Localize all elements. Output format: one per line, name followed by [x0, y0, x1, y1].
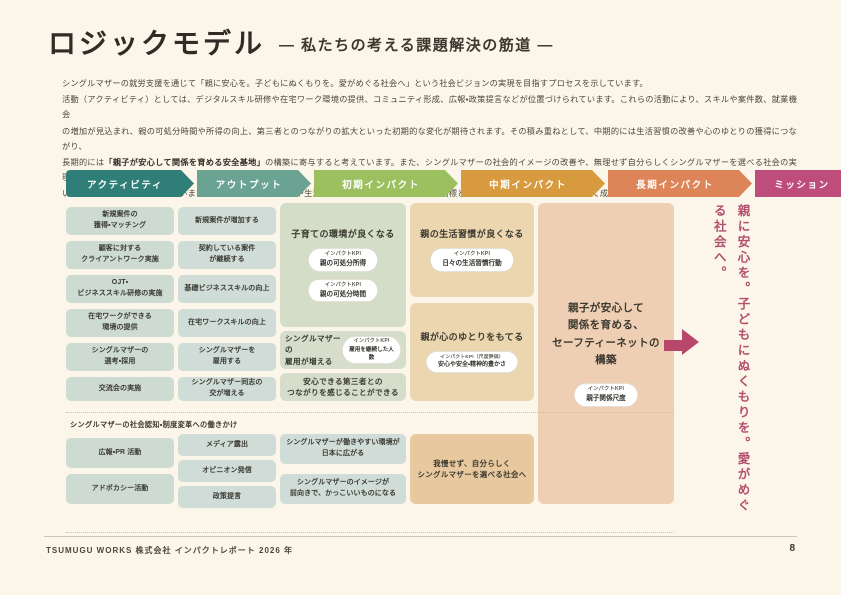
page-subtitle: — 私たちの考える課題解決の筋道 — — [279, 34, 554, 58]
ribbon-label: ミッション — [774, 177, 830, 191]
ribbon-stage-output[interactable]: アウトプット — [197, 170, 311, 197]
kpi-pill-parent-child-scale[interactable]: インパクトKPI 親子関係尺度 — [574, 383, 638, 407]
output-cell-3[interactable]: 基礎ビジネススキルの向上 — [178, 275, 276, 303]
mission-column: 親に安心を。子どもにぬくもりを。愛がめぐる社会へ。 — [700, 204, 796, 534]
activity-cell-2[interactable]: 顧客に対するクライアントワーク実施 — [66, 241, 174, 269]
ribbon-label: 初期インパクト — [342, 177, 420, 191]
kpi-label: インパクトKPI — [586, 386, 626, 394]
kpi-value: 雇用を継続した人数 — [349, 346, 394, 363]
kpi-pill-daily-habits[interactable]: インパクトKPI 日々の生活習慣行動 — [430, 248, 513, 272]
output-cell-6[interactable]: シングルマザー同志の交が増える — [178, 377, 276, 401]
output-cell-2[interactable]: 契約している案件が継続する — [178, 241, 276, 269]
mission-arrow-tail — [664, 340, 684, 351]
intro-line-2: 活動（アクティビティ）としては、デジタルスキル研修や在宅ワーク環境の提供、コミュ… — [62, 92, 797, 122]
ribbon-stage-mid[interactable]: 中期インパクト — [461, 170, 605, 197]
intro-line-1: シングルマザーの就労支援を通じて「親に安心を。子どもにぬくもりを。愛がめぐる社会… — [62, 76, 797, 91]
activity-cell-3[interactable]: OJT・ビジネススキル研修の実施 — [66, 275, 174, 303]
ribbon-stage-activity[interactable]: アクティビティ — [66, 170, 194, 197]
long-panel-safetynet[interactable]: 親子が安心して関係を育める、セーフティーネットの構築 インパクトKPI 親子関係… — [538, 203, 674, 504]
early-panel-employment[interactable]: シングルマザーの雇用が増える インパクトKPI 雇用を継続した人数 — [280, 331, 406, 369]
activity-cell-6[interactable]: 交流会の実施 — [66, 377, 174, 401]
page-title: ロジックモデル — [48, 30, 265, 58]
kpi-label: インパクトKPI（尺度評価） — [438, 354, 506, 361]
kpi-pill-employment-retention[interactable]: インパクトKPI 雇用を継続した人数 — [342, 336, 401, 365]
activity-lower-cell-1[interactable]: 広報・PR 活動 — [66, 438, 174, 468]
stage-ribbon: アクティビティ アウトプット 初期インパクト 中期インパクト 長期インパクト ミ… — [66, 170, 841, 197]
mid-panel-lifestyle-title: 親の生活習慣が良くなる — [420, 228, 523, 242]
ribbon-stage-long[interactable]: 長期インパクト — [608, 170, 752, 197]
kpi-label: インパクトKPI — [349, 338, 394, 346]
kpi-label: インパクトKPI — [320, 251, 366, 259]
page-header: ロジックモデル — 私たちの考える課題解決の筋道 — — [48, 30, 801, 58]
kpi-label: インパクトKPI — [320, 282, 366, 290]
lower-band-label: シングルマザーの社会認知・制度変革への働きかけ — [70, 420, 237, 430]
kpi-value: 親の可処分所得 — [320, 259, 366, 269]
long-panel-safetynet-title: 親子が安心して関係を育める、セーフティーネットの構築 — [552, 300, 660, 369]
activity-cell-1[interactable]: 新規案件の獲得・マッチング — [66, 207, 174, 235]
mid-panel-peace-title: 親が心のゆとりをもてる — [420, 331, 523, 345]
activity-cell-5[interactable]: シングルマザーの選考・採用 — [66, 343, 174, 371]
mid-panel-peace-of-mind[interactable]: 親が心のゆとりをもてる インパクトKPI（尺度評価） 安心や安全・精神的豊かさ — [410, 303, 534, 401]
band-divider-bottom — [66, 532, 674, 533]
ribbon-label: アクティビティ — [87, 177, 163, 191]
ribbon-label: 中期インパクト — [489, 177, 567, 191]
early-lower-cell-1[interactable]: シングルマザーが働きやすい環境が日本に広がる — [280, 434, 406, 464]
ribbon-stage-mission[interactable]: ミッション — [755, 170, 841, 197]
output-lower-cell-2[interactable]: オピニオン発信 — [178, 460, 276, 482]
output-cell-4[interactable]: 在宅ワークスキルの向上 — [178, 309, 276, 337]
intro-line-4a: 長期的には — [62, 158, 104, 167]
mid-lower-panel-text: 我慢せず、自分らしくシングルマザーを選べる社会へ — [417, 458, 526, 480]
output-lower-cell-3[interactable]: 政策提言 — [178, 486, 276, 508]
kpi-value: 親子関係尺度 — [586, 394, 626, 404]
mission-statement: 親に安心を。子どもにぬくもりを。愛がめぐる社会へ。 — [706, 204, 754, 524]
early-panel-connection[interactable]: 安心できる第三者とのつながりを感じることができる — [280, 373, 406, 401]
early-lower-cell-2[interactable]: シングルマザーのイメージが前向きで、かっこいいものになる — [280, 474, 406, 504]
kpi-value: 親の可処分時間 — [320, 290, 366, 300]
band-divider-top — [66, 412, 674, 413]
footer-divider — [44, 536, 797, 537]
mid-panel-lifestyle[interactable]: 親の生活習慣が良くなる インパクトKPI 日々の生活習慣行動 — [410, 203, 534, 297]
intro-line-3: の増加が見込まれ、親の可処分時間や所得の向上、第三者とのつながりの拡大といった初… — [62, 124, 797, 154]
output-cell-5[interactable]: シングルマザーを雇用する — [178, 343, 276, 371]
mission-arrow-icon — [682, 329, 699, 355]
mid-lower-panel-choice[interactable]: 我慢せず、自分らしくシングルマザーを選べる社会へ — [410, 434, 534, 504]
footer-text: TSUMUGU WORKS 株式会社 インパクトレポート 2026 年 — [46, 545, 293, 556]
intro-emphasis: 「親子が安心して関係を育める安全基地」 — [104, 158, 265, 167]
early-panel-connection-title: 安心できる第三者とのつながりを感じることができる — [287, 376, 399, 399]
kpi-value: 日々の生活習慣行動 — [442, 259, 501, 269]
ribbon-label: アウトプット — [216, 177, 283, 191]
kpi-pill-wellbeing-scale[interactable]: インパクトKPI（尺度評価） 安心や安全・精神的豊かさ — [426, 351, 518, 373]
kpi-pill-disposable-time[interactable]: インパクトKPI 親の可処分時間 — [308, 279, 378, 303]
ribbon-stage-early[interactable]: 初期インパクト — [314, 170, 458, 197]
page-number: 8 — [789, 543, 795, 554]
kpi-value: 安心や安全・精神的豊かさ — [438, 361, 506, 370]
kpi-pill-disposable-income[interactable]: インパクトKPI 親の可処分所得 — [308, 248, 378, 272]
early-panel-employment-title: シングルマザーの雇用が増える — [285, 333, 342, 367]
early-panel-childcare[interactable]: 子育ての環境が良くなる インパクトKPI 親の可処分所得 インパクトKPI 親の… — [280, 203, 406, 327]
activity-lower-cell-2[interactable]: アドボカシー活動 — [66, 474, 174, 504]
kpi-label: インパクトKPI — [442, 251, 501, 259]
output-cell-1[interactable]: 新規案件が増加する — [178, 207, 276, 235]
early-panel-childcare-title: 子育ての環境が良くなる — [291, 228, 394, 242]
output-lower-cell-1[interactable]: メディア露出 — [178, 434, 276, 456]
logic-model-page: ロジックモデル — 私たちの考える課題解決の筋道 — シングルマザーの就労支援を… — [0, 0, 841, 595]
activity-cell-4[interactable]: 在宅ワークができる環境の提供 — [66, 309, 174, 337]
ribbon-label: 長期インパクト — [636, 177, 714, 191]
